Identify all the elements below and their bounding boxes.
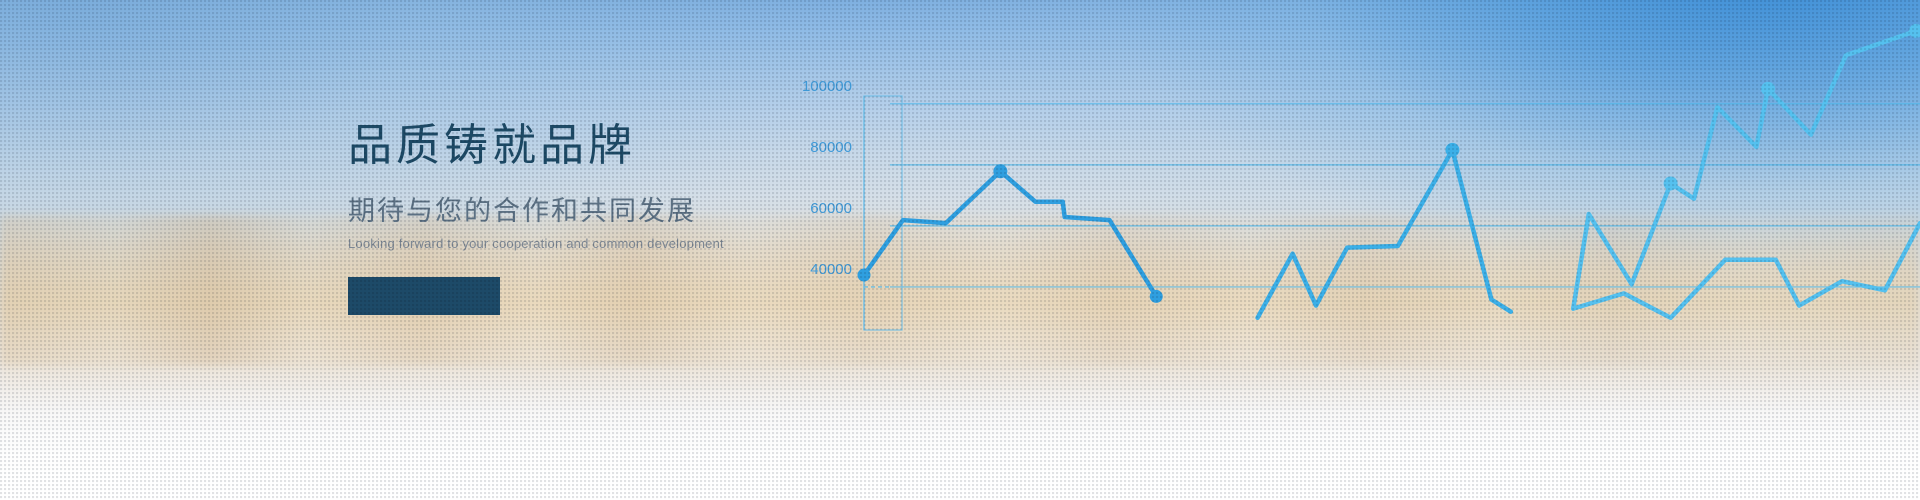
chart-data-point	[1150, 290, 1163, 303]
y-axis-tick-label: 80000	[810, 139, 852, 156]
page-title: 品质铸就品牌	[348, 118, 768, 173]
y-axis-tick-label: 40000	[810, 261, 852, 278]
y-axis-tick-label: 60000	[810, 200, 852, 217]
hero-subtitle: 期待与您的合作和共同发展	[348, 195, 768, 227]
chart-data-point	[993, 164, 1007, 178]
hero-banner: 品质铸就品牌 期待与您的合作和共同发展 Looking forward to y…	[0, 0, 1920, 500]
chart-axis-box	[864, 96, 902, 330]
hero-subtitle-english: Looking forward to your cooperation and …	[348, 236, 768, 251]
chart-series	[858, 24, 1920, 318]
chart-data-point	[1664, 176, 1678, 190]
line-chart: 100000800006000040000	[760, 0, 1920, 430]
chart-data-point	[1445, 143, 1459, 157]
chart-line-segment-1	[864, 171, 1156, 296]
chart-canvas: 100000800006000040000	[760, 0, 1920, 430]
chart-data-point	[1761, 82, 1775, 96]
hero-cta-button[interactable]	[348, 277, 500, 315]
chart-line-segment-3	[1573, 31, 1916, 309]
chart-line-segment-2	[1258, 150, 1511, 318]
chart-y-axis-labels: 100000800006000040000	[802, 78, 852, 278]
y-axis-tick-label: 100000	[802, 78, 852, 95]
chart-data-point	[858, 269, 871, 282]
axis-frame	[864, 96, 902, 330]
hero-copy: 品质铸就品牌 期待与您的合作和共同发展 Looking forward to y…	[348, 118, 768, 315]
chart-data-point	[1909, 24, 1920, 38]
